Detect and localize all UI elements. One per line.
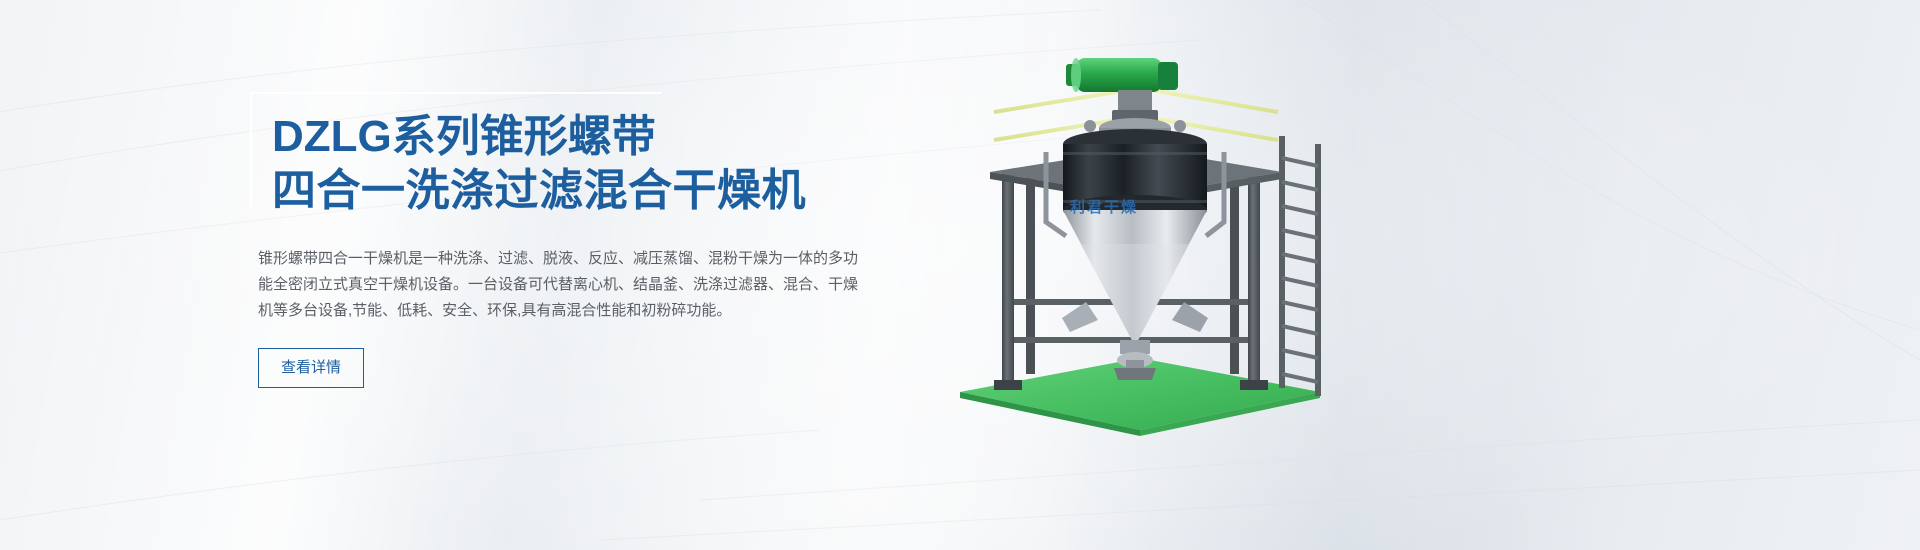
banner-title: DZLG系列锥形螺带 四合一洗涤过滤混合干燥机 bbox=[250, 92, 890, 228]
title-line-1: DZLG系列锥形螺带 bbox=[272, 110, 890, 164]
banner-content: DZLG系列锥形螺带 四合一洗涤过滤混合干燥机 锥形螺带四合一干燥机是一种洗涤、… bbox=[250, 92, 890, 388]
view-details-button[interactable]: 查看详情 bbox=[258, 348, 364, 388]
banner-description: 锥形螺带四合一干燥机是一种洗涤、过滤、脱液、反应、减压蒸馏、混粉干燥为一体的多功… bbox=[258, 246, 858, 324]
access-ladder bbox=[1282, 136, 1318, 396]
hero-banner: DZLG系列锥形螺带 四合一洗涤过滤混合干燥机 锥形螺带四合一干燥机是一种洗涤、… bbox=[0, 0, 1920, 550]
title-line-2: 四合一洗涤过滤混合干燥机 bbox=[272, 164, 890, 218]
conical-screw-dryer-icon bbox=[930, 40, 1350, 440]
